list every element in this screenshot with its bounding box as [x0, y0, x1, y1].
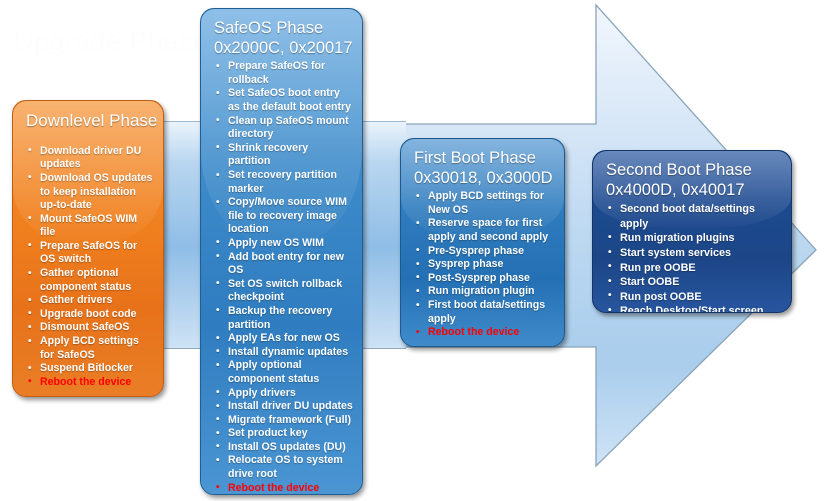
- phase-title: Second Boot Phase: [606, 161, 782, 180]
- list-item: Add boot entry for new OS: [214, 251, 353, 278]
- list-item: Copy/Move source WIM file to recovery im…: [214, 196, 353, 237]
- reboot-item: Reboot the device: [414, 326, 555, 340]
- list-item: Clean up SafeOS mount directory: [214, 115, 353, 142]
- list-item: Apply drivers: [214, 387, 353, 401]
- reboot-item: Reboot the device: [26, 376, 154, 390]
- list-item: Reserve space for first apply and second…: [414, 217, 555, 244]
- reboot-item: Reboot the device: [214, 482, 353, 495]
- list-item: Gather optional component status: [26, 267, 154, 294]
- list-item: Start OOBE: [606, 275, 782, 290]
- list-item: Reach Desktop/Start screen: [606, 304, 782, 313]
- list-item: Set recovery partition marker: [214, 169, 353, 196]
- list-item: Mount SafeOS WIM file: [26, 213, 154, 240]
- phase-box-secondboot[interactable]: Second Boot Phase 0x4000D, 0x40017 Secon…: [592, 150, 792, 313]
- phase-title: First Boot Phase: [414, 149, 555, 168]
- phase-step-list: Prepare SafeOS for rollback Set SafeOS b…: [214, 60, 353, 495]
- watermark-text: Upgrade Phases: [14, 26, 222, 57]
- list-item: Download driver DU updates: [26, 145, 154, 172]
- phase-code: 0x4000D, 0x40017: [606, 181, 782, 200]
- list-item: Pre-Sysprep phase: [414, 245, 555, 259]
- phase-title: Downlevel Phase: [26, 111, 154, 131]
- connector-safeos-firstboot: [356, 121, 406, 349]
- list-item: Apply BCD settings for New OS: [414, 190, 555, 217]
- phase-title: SafeOS Phase: [214, 19, 353, 38]
- list-item: Relocate OS to system drive root: [214, 454, 353, 481]
- phase-step-list: Apply BCD settings for New OS Reserve sp…: [414, 190, 555, 340]
- list-item: Upgrade boot code: [26, 308, 154, 322]
- phase-code: 0x30018, 0x3000D: [414, 169, 555, 188]
- list-item: Second boot data/settings apply: [606, 202, 782, 231]
- list-item: Download OS updates to keep installation…: [26, 172, 154, 213]
- phase-box-downlevel[interactable]: Downlevel Phase Download driver DU updat…: [12, 100, 164, 397]
- phase-step-list: Download driver DU updates Download OS u…: [26, 145, 154, 390]
- list-item: Shrink recovery partition: [214, 142, 353, 169]
- list-item: Install OS updates (DU): [214, 441, 353, 455]
- phase-step-list: Second boot data/settings apply Run migr…: [606, 202, 782, 313]
- list-item: Sysprep phase: [414, 258, 555, 272]
- list-item: Apply EAs for new OS: [214, 332, 353, 346]
- list-item: Dismount SafeOS: [26, 321, 154, 335]
- list-item: Suspend Bitlocker: [26, 362, 154, 376]
- list-item: Gather drivers: [26, 294, 154, 308]
- phase-code: 0x2000C, 0x20017: [214, 39, 353, 58]
- list-item: Set product key: [214, 427, 353, 441]
- list-item: Set SafeOS boot entry as the default boo…: [214, 87, 353, 114]
- list-item: Start system services: [606, 246, 782, 261]
- list-item: Run pre OOBE: [606, 261, 782, 276]
- list-item: Migrate framework (Full): [214, 414, 353, 428]
- list-item: Apply BCD settings for SafeOS: [26, 335, 154, 362]
- phase-box-safeos[interactable]: SafeOS Phase 0x2000C, 0x20017 Prepare Sa…: [200, 8, 363, 495]
- diagram-canvas: Upgrade Phases Downlevel Phase Download …: [0, 0, 825, 501]
- list-item: First boot data/settings apply: [414, 299, 555, 326]
- list-item: Set OS switch rollback checkpoint: [214, 278, 353, 305]
- list-item: Apply new OS WIM: [214, 237, 353, 251]
- list-item: Run migration plugins: [606, 231, 782, 246]
- list-item: Post-Sysprep phase: [414, 272, 555, 286]
- list-item: Install driver DU updates: [214, 400, 353, 414]
- list-item: Apply optional component status: [214, 359, 353, 386]
- phase-box-firstboot[interactable]: First Boot Phase 0x30018, 0x3000D Apply …: [400, 138, 565, 347]
- list-item: Backup the recovery partition: [214, 305, 353, 332]
- list-item: Prepare SafeOS for OS switch: [26, 240, 154, 267]
- list-item: Prepare SafeOS for rollback: [214, 60, 353, 87]
- list-item: Install dynamic updates: [214, 346, 353, 360]
- list-item: Run post OOBE: [606, 290, 782, 305]
- list-item: Run migration plugin: [414, 285, 555, 299]
